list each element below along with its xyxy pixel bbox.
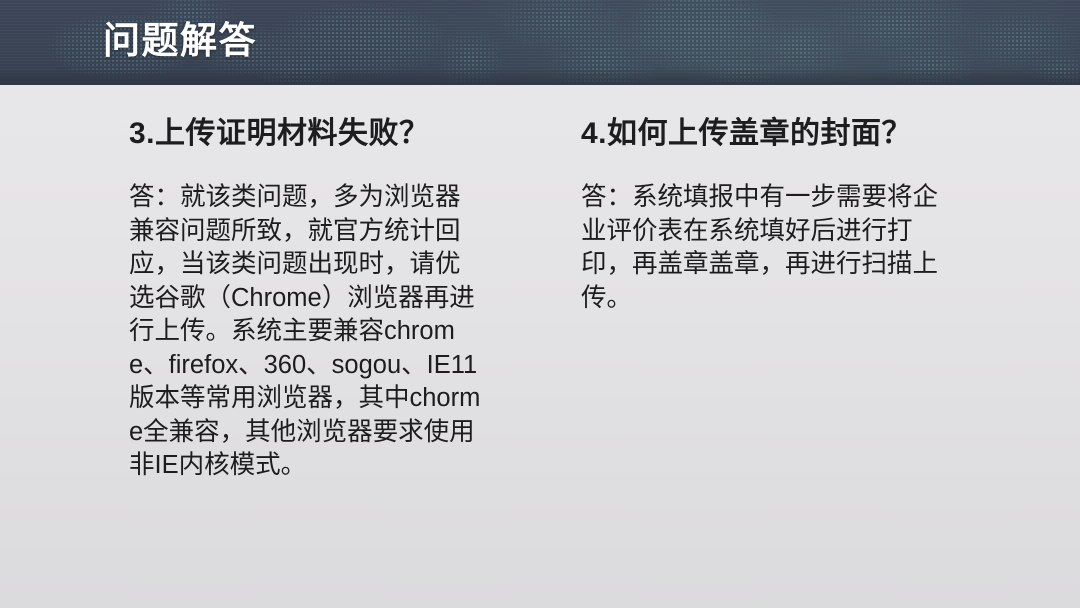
qa-column-right: 4.如何上传盖章的封面？ 答：系统填报中有一步需要将企业评价表在系统填好后进行打… xyxy=(581,85,971,315)
answer-text-3: 答：就该类问题，多为浏览器兼容问题所致，就官方统计回应，当该类问题出现时，请优选… xyxy=(129,181,481,483)
slide: 问题解答 3.上传证明材料失败？ 答：就该类问题，多为浏览器兼容问题所致，就官方… xyxy=(0,0,1080,608)
answer-text-4: 答：系统填报中有一步需要将企业评价表在系统填好后进行打印，再盖章盖章，再进行扫描… xyxy=(581,181,947,315)
question-heading-3: 3.上传证明材料失败？ xyxy=(129,114,519,154)
qa-column-left: 3.上传证明材料失败？ 答：就该类问题，多为浏览器兼容问题所致，就官方统计回应，… xyxy=(129,85,519,483)
question-heading-4: 4.如何上传盖章的封面？ xyxy=(581,114,971,154)
page-title: 问题解答 xyxy=(103,17,257,65)
content-area: 3.上传证明材料失败？ 答：就该类问题，多为浏览器兼容问题所致，就官方统计回应，… xyxy=(0,85,1080,608)
slide-header: 问题解答 xyxy=(0,0,1080,85)
